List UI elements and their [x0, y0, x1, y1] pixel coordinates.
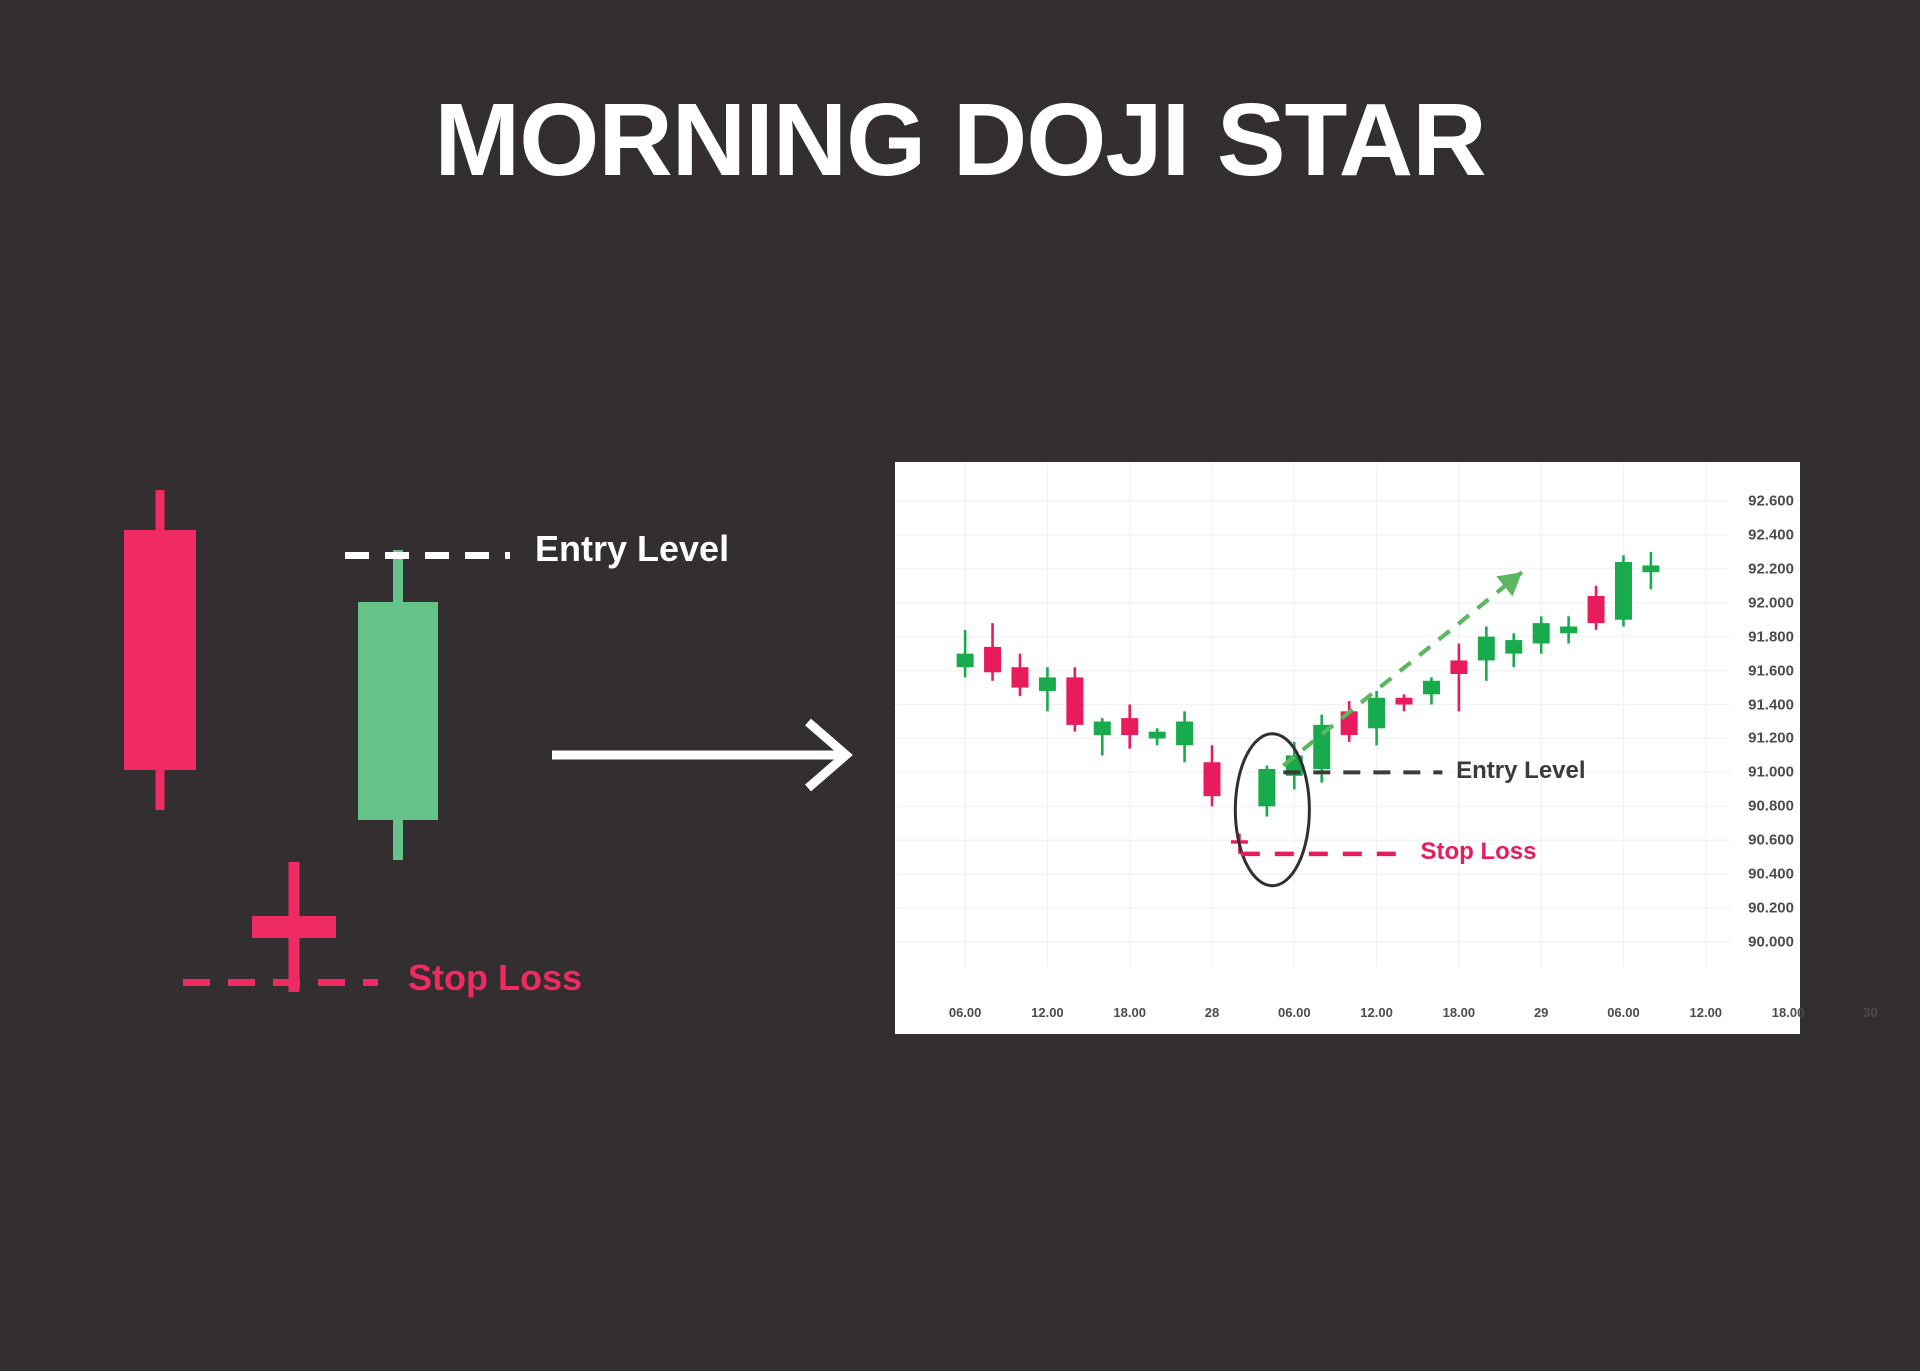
x-axis-tick: 28	[1205, 1005, 1219, 1020]
entry-level-dashed-line	[345, 552, 510, 559]
candlestick-svg	[895, 462, 1730, 997]
chart-plot-area	[895, 462, 1730, 997]
candle-body	[1066, 677, 1083, 725]
candle-body	[1478, 637, 1495, 661]
pattern-highlight-ellipse	[1235, 734, 1309, 886]
x-axis-tick: 12.00	[1360, 1005, 1393, 1020]
x-axis-tick: 12.00	[1689, 1005, 1722, 1020]
y-axis-tick: 92.000	[1748, 594, 1794, 611]
uptrend-arrow-head	[1496, 572, 1522, 596]
y-axis-tick: 90.800	[1748, 798, 1794, 815]
candle-body	[1203, 762, 1220, 796]
candle-body	[1149, 732, 1166, 739]
x-axis-tick: 30	[1863, 1005, 1877, 1020]
candle-body	[124, 530, 196, 770]
x-axis-tick: 06.00	[1607, 1005, 1640, 1020]
x-axis-tick: 29	[1534, 1005, 1548, 1020]
candle-body	[1423, 681, 1440, 695]
chart-y-axis: 92.60092.40092.20092.00091.80091.60091.4…	[1730, 462, 1800, 997]
candle-body	[957, 654, 974, 668]
y-axis-tick: 92.600	[1748, 492, 1794, 509]
y-axis-tick: 91.000	[1748, 764, 1794, 781]
candle-body	[1533, 623, 1550, 643]
candle-body	[1642, 565, 1659, 572]
stop-loss-dashed-line	[183, 979, 378, 986]
chart-x-axis: 06.0012.0018.002806.0012.0018.002906.001…	[895, 1005, 1730, 1029]
y-axis-tick: 90.000	[1748, 934, 1794, 951]
candle-body	[1094, 722, 1111, 736]
candle-body	[1121, 718, 1138, 735]
illustration-bullish-candle	[358, 550, 438, 860]
entry-level-label: Entry Level	[535, 528, 729, 570]
candle-body	[1039, 677, 1056, 691]
y-axis-tick: 90.600	[1748, 832, 1794, 849]
x-axis-tick: 06.00	[1278, 1005, 1311, 1020]
y-axis-tick: 91.400	[1748, 696, 1794, 713]
y-axis-tick: 92.400	[1748, 526, 1794, 543]
x-axis-tick: 18.00	[1443, 1005, 1476, 1020]
candle-body	[358, 602, 438, 820]
candle-body	[1560, 627, 1577, 634]
y-axis-tick: 91.200	[1748, 730, 1794, 747]
candlestick-chart-panel: 92.60092.40092.20092.00091.80091.60091.4…	[895, 462, 1800, 1034]
candle-body	[1258, 769, 1275, 806]
y-axis-tick: 90.400	[1748, 866, 1794, 883]
stop-loss-label: Stop Loss	[408, 957, 582, 999]
x-axis-tick: 12.00	[1031, 1005, 1064, 1020]
candle-body	[1396, 698, 1413, 705]
pattern-illustration: Entry Level Stop Loss	[0, 0, 900, 1371]
chart-gridlines	[895, 462, 1730, 967]
candle-body	[1176, 722, 1193, 746]
candle-body	[1368, 698, 1385, 729]
candle-body	[1450, 660, 1467, 674]
chart-stop-loss-label: Stop Loss	[1420, 838, 1536, 866]
y-axis-tick: 91.800	[1748, 628, 1794, 645]
candle-body	[1505, 640, 1522, 654]
chart-entry-level-label: Entry Level	[1456, 757, 1585, 785]
x-axis-tick: 18.00	[1772, 1005, 1805, 1020]
y-axis-tick: 91.600	[1748, 662, 1794, 679]
candle-body	[1011, 667, 1028, 687]
candle-body	[984, 647, 1001, 672]
x-axis-tick: 18.00	[1113, 1005, 1146, 1020]
candle-body	[252, 916, 336, 938]
candle-body	[1588, 596, 1605, 623]
x-axis-tick: 06.00	[949, 1005, 982, 1020]
right-arrow-icon	[550, 710, 860, 800]
illustration-bearish-candle	[124, 490, 196, 810]
illustration-doji-star-candle	[252, 862, 336, 992]
y-axis-tick: 90.200	[1748, 900, 1794, 917]
y-axis-tick: 92.200	[1748, 560, 1794, 577]
candle-body	[1615, 562, 1632, 620]
